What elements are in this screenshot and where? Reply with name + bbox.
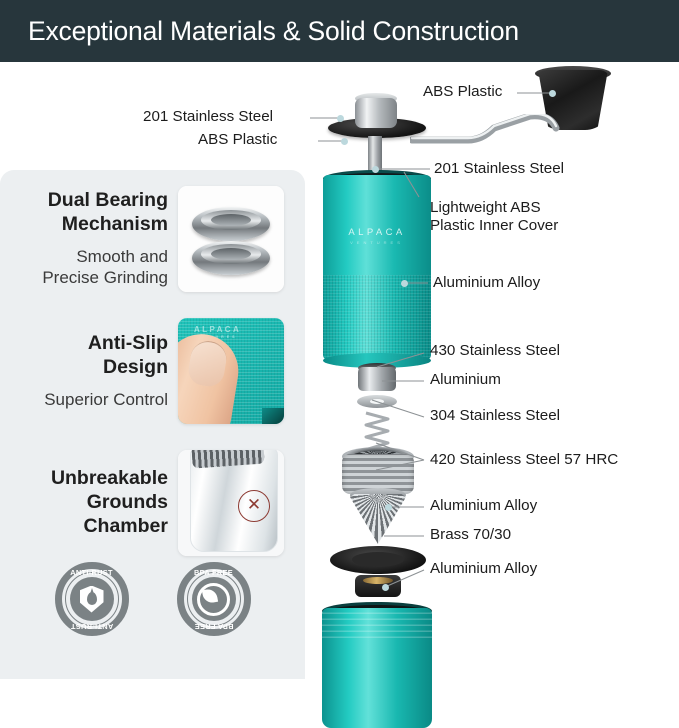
callout-dot	[549, 90, 556, 97]
chamber-illustration: ✕	[178, 450, 284, 556]
infographic-page: Exceptional Materials & Solid Constructi…	[0, 0, 679, 679]
feature-grounds-chamber: Unbreakable Grounds Chamber ✕	[0, 450, 305, 556]
feature-title-line1: Unbreakable	[0, 467, 168, 491]
feature-sub-line1: Superior Control	[0, 389, 168, 410]
callout-ring-430: 430 Stainless Steel	[430, 342, 560, 360]
feature-anti-slip-title: Anti-Slip Design	[0, 332, 168, 380]
badge-text-top: ANTI-RUST	[55, 568, 129, 577]
anti-rust-badge: ANTI-RUST ANTI-RUST	[55, 562, 129, 636]
no-glass-x-icon: ✕	[238, 490, 270, 522]
badge-text-top: BPA FREE	[177, 568, 251, 577]
bearing-illustration	[178, 186, 284, 292]
aluminium-alloy-base	[330, 546, 426, 574]
aluminium-body: ALPACA VENTURES	[323, 175, 431, 360]
callout-line2: Plastic Inner Cover	[430, 217, 558, 235]
callout-shaft-201: 201 Stainless Steel	[434, 160, 564, 178]
callout-dot	[372, 166, 379, 173]
callout-disc-abs: ABS Plastic	[198, 131, 277, 149]
callout-brass-7030: Brass 70/30	[430, 526, 511, 544]
callout-burr-420: 420 Stainless Steel 57 HRC	[430, 451, 618, 469]
brand-name: ALPACA	[194, 325, 241, 334]
feature-title-line1: Dual Bearing	[0, 189, 168, 213]
bpa-free-badge: BPA FREE BPA FREE	[177, 562, 251, 636]
header-banner: Exceptional Materials & Solid Constructi…	[0, 0, 679, 62]
steel-ring-430	[358, 367, 396, 391]
feature-title-line2: Design	[0, 356, 168, 380]
callout-washer-alu: Aluminium	[430, 371, 501, 389]
feature-anti-slip-subtitle: Superior Control	[0, 389, 168, 410]
brand-name: ALPACA	[348, 227, 405, 238]
crank-arm	[410, 114, 560, 156]
thumbnail-illustration	[186, 339, 229, 389]
grip-corner-shadow	[262, 408, 284, 424]
grounds-jar	[322, 608, 432, 728]
brand-sub: VENTURES	[323, 240, 431, 245]
grip-texture: ALPACA VENTURES	[178, 318, 284, 424]
callout-base-alloy: Aluminium Alloy	[430, 497, 537, 515]
badge-text-bottom: BPA FREE	[177, 622, 251, 631]
feature-dual-bearing-subtitle: Smooth and Precise Grinding	[0, 246, 168, 289]
callout-dot	[337, 115, 344, 122]
anti-slip-grip-photo: ALPACA VENTURES	[178, 318, 284, 424]
callout-knob-abs: ABS Plastic	[423, 83, 502, 101]
certification-badges: ANTI-RUST ANTI-RUST BPA FREE BPA FREE	[0, 562, 305, 636]
callout-dot	[382, 584, 389, 591]
steel-knob	[355, 98, 397, 128]
page-title: Exceptional Materials & Solid Constructi…	[0, 16, 519, 47]
bearing-ring-top	[192, 207, 270, 241]
feature-sub-line2: Precise Grinding	[0, 267, 168, 288]
jar-threads	[322, 608, 432, 638]
feature-anti-slip-text: Anti-Slip Design Superior Control	[0, 332, 178, 410]
callout-crank-201: 201 Stainless Steel	[143, 108, 273, 126]
callout-inner-cover: Lightweight ABS Plastic Inner Cover	[430, 199, 558, 235]
callout-body-alloy: Aluminium Alloy	[433, 274, 540, 292]
feature-grounds-chamber-text: Unbreakable Grounds Chamber	[0, 467, 178, 538]
droplet-shape	[87, 592, 97, 605]
feature-title-line2: Grounds	[0, 491, 168, 515]
finger-illustration	[178, 329, 244, 424]
bearing-ring-bottom	[192, 241, 270, 275]
feature-title-line1: Anti-Slip	[0, 332, 168, 356]
feature-anti-slip: Anti-Slip Design Superior Control ALPACA…	[0, 318, 305, 424]
conical-burr	[350, 494, 406, 544]
feature-dual-bearing: Dual Bearing Mechanism Smooth and Precis…	[0, 186, 305, 292]
feature-dual-bearing-title: Dual Bearing Mechanism	[0, 189, 168, 237]
feature-sub-line1: Smooth and	[0, 246, 168, 267]
callout-dot	[401, 280, 408, 287]
leaf-shape	[197, 583, 230, 616]
shield-droplet-icon	[70, 577, 114, 621]
aluminium-washer	[357, 395, 397, 408]
callout-spring-304: 304 Stainless Steel	[430, 407, 560, 425]
callout-dot	[385, 504, 392, 511]
badge-text-bottom: ANTI-RUST	[55, 622, 129, 631]
brass-adjustment-dial	[355, 575, 401, 597]
callout-dot	[341, 138, 348, 145]
shield-shape	[80, 586, 104, 613]
grounds-chamber-photo: ✕	[178, 450, 284, 556]
knurled-texture	[323, 275, 431, 360]
leaf-circle-icon	[192, 577, 236, 621]
feature-dual-bearing-text: Dual Bearing Mechanism Smooth and Precis…	[0, 189, 178, 288]
dual-bearing-photo	[178, 186, 284, 292]
body-brand-mark: ALPACA VENTURES	[323, 227, 431, 245]
feature-title-line3: Chamber	[0, 515, 168, 539]
feature-grounds-chamber-title: Unbreakable Grounds Chamber	[0, 467, 168, 538]
feature-title-line2: Mechanism	[0, 213, 168, 237]
callout-jar-alloy: Aluminium Alloy	[430, 560, 537, 578]
callout-line1: Lightweight ABS	[430, 199, 558, 217]
